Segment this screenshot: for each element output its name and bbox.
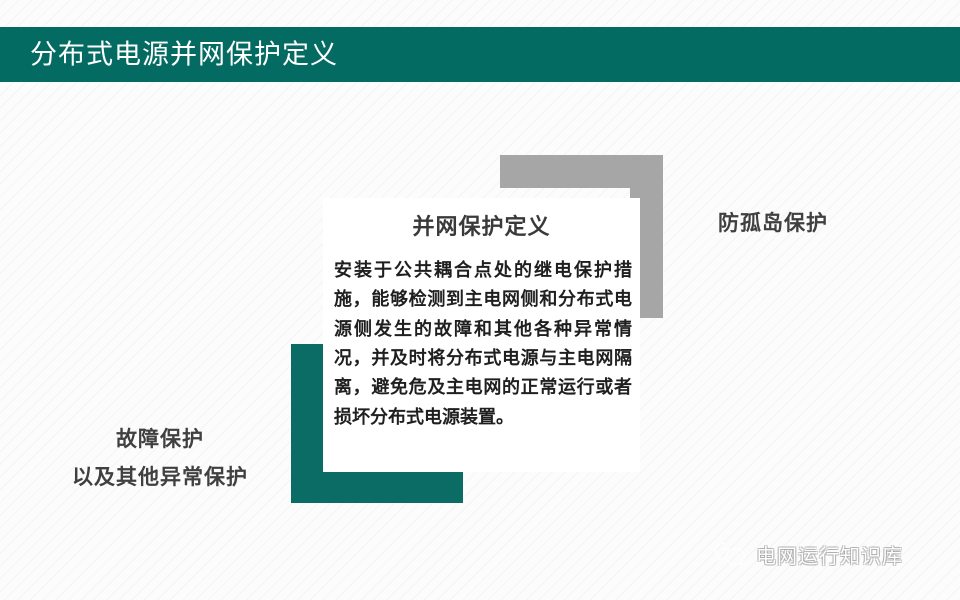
definition-card-title: 并网保护定义: [323, 216, 640, 238]
watermark-label: 电网运行知识库: [756, 540, 903, 569]
slide-header-bar: 分布式电源并网保护定义: [0, 27, 960, 82]
wechat-icon: [714, 542, 748, 568]
callout-fault-line-2: 以及其他异常保护: [30, 463, 290, 493]
definition-card: 并网保护定义 安装于公共耦合点处的继电保护措施，能够检测到主电网侧和分布式电源侧…: [323, 198, 640, 472]
page-title: 分布式电源并网保护定义: [30, 41, 338, 68]
callout-fault-line-1: 故障保护: [30, 425, 290, 455]
slide-canvas: 分布式电源并网保护定义 并网保护定义 安装于公共耦合点处的继电保护措施，能够检测…: [0, 0, 960, 600]
callout-anti-island-protection: 防孤岛保护: [718, 209, 828, 239]
teal-bracket-bottom-bar: [291, 471, 463, 503]
watermark: 电网运行知识库: [714, 540, 903, 569]
definition-card-body: 安装于公共耦合点处的继电保护措施，能够检测到主电网侧和分布式电源侧发生的故障和其…: [334, 256, 632, 432]
callout-fault-protection: 故障保护 以及其他异常保护: [30, 425, 290, 494]
